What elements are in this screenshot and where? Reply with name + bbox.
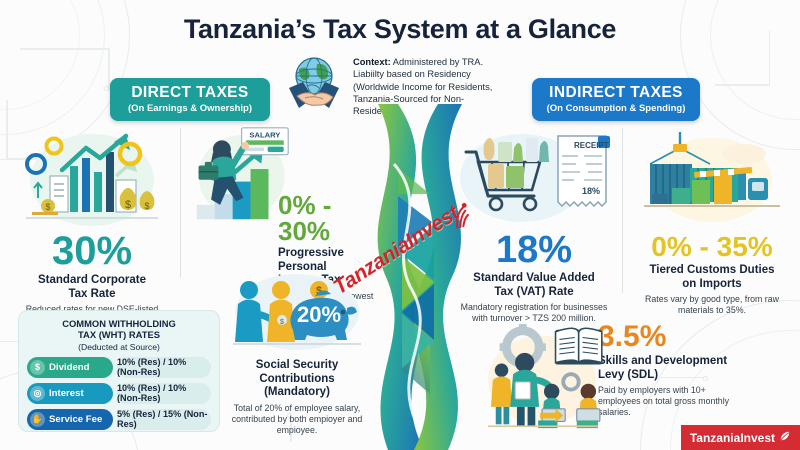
context-label: Context:: [353, 57, 391, 67]
wht-rate-interest: 10% (Res) / 10% (Non-Res): [117, 383, 211, 404]
infographic-canvas: Tanzania’s Tax System at a Glance Contex…: [0, 0, 800, 450]
wht-rate-service-fee: 5% (Res) / 15% (Non-Res): [117, 409, 211, 430]
customs-duties-subtext: Rates vary by good type, from raw materi…: [628, 294, 796, 316]
svg-text:20%: 20%: [297, 302, 341, 327]
badge-direct-subtitle: (On Earnings & Ownership): [122, 103, 258, 114]
sdl-subtext: Paid by employers with 10+ employees on …: [598, 385, 748, 418]
badge-indirect-subtitle: (On Consumption & Spending): [544, 103, 688, 114]
corporate-tax-value: 30%: [6, 231, 178, 271]
training-gear-book-icon: [480, 324, 606, 437]
social-security-subtext: Total of 20% of employee salary, contrib…: [218, 403, 376, 436]
wht-label-service-fee: Service Fee: [49, 414, 102, 425]
wht-rate-dividend: 10% (Res) / 10% (Non-Res): [117, 357, 211, 378]
tanzaniainvest-logo[interactable]: TanzaniaInvest: [681, 425, 800, 450]
wht-rates-panel: COMMON WITHHOLDING TAX (WHT) RATES (Dedu…: [18, 310, 220, 432]
badge-direct-taxes[interactable]: DIRECT TAXES (On Earnings & Ownership): [110, 78, 270, 121]
globe-handshake-icon: [283, 52, 345, 114]
money-bag-icon: $: [30, 360, 45, 375]
sdl-value: 3.5%: [598, 322, 780, 352]
logo-text: TanzaniaInvest: [690, 431, 775, 445]
wht-subtitle: (Deducted at Source): [27, 342, 211, 352]
vat-caption: Standard Value Added Tax (VAT) Rate: [444, 272, 624, 299]
badge-indirect-taxes[interactable]: INDIRECT TAXES (On Consumption & Spendin…: [532, 78, 700, 121]
card-corporate-tax: $ $ $ 30% Standard Corporate Tax Rate Re…: [6, 128, 178, 326]
wht-label-interest: Interest: [49, 388, 84, 399]
svg-text:18%: 18%: [582, 186, 600, 196]
wht-title: COMMON WITHHOLDING TAX (WHT) RATES: [27, 318, 211, 341]
corporate-tax-caption: Standard Corporate Tax Rate: [6, 274, 178, 301]
page-title: Tanzania’s Tax System at a Glance: [0, 14, 800, 45]
customs-duties-caption: Tiered Customs Duties on Imports: [628, 264, 796, 291]
vat-subtext: Mandatory registration for businesses wi…: [444, 302, 624, 324]
svg-text:$: $: [144, 201, 149, 211]
sdl-caption: Skills and Development Levy (SDL): [598, 355, 780, 382]
personal-income-tax-value: 0% - 30%: [278, 192, 376, 244]
divider-left: [180, 128, 181, 278]
card-social-security: $ $ 20% Social Security Contributions (M…: [218, 272, 376, 436]
wht-row-interest[interactable]: ◎ Interest 10% (Res) / 10% (Non-Res): [27, 383, 211, 404]
card-vat: RECEIPT 18% 18% Standard Value Added Tax…: [444, 128, 624, 324]
coin-stack-icon: ◎: [30, 386, 45, 401]
wht-label-dividend: Dividend: [49, 362, 90, 373]
svg-text:$: $: [125, 199, 131, 211]
badge-indirect-title: INDIRECT TAXES: [544, 84, 688, 102]
salary-stairs-icon: SALARY: [186, 126, 290, 235]
card-skills-development-levy: 3.5% Skills and Development Levy (SDL) P…: [480, 322, 780, 418]
shipping-container-crane-icon: [628, 128, 796, 233]
customs-duties-value: 0% - 35%: [628, 233, 796, 261]
hand-coin-icon: ✋: [30, 412, 45, 427]
card-customs-duties: 0% - 35% Tiered Customs Duties on Import…: [628, 128, 796, 316]
svg-text:SALARY: SALARY: [249, 131, 280, 140]
social-security-caption: Social Security Contributions (Mandatory…: [218, 359, 376, 400]
logo-leaf-icon: [779, 430, 791, 445]
badge-direct-title: DIRECT TAXES: [122, 84, 258, 102]
svg-text:$: $: [45, 202, 50, 212]
corporate-growth-chart-icon: $ $ $: [6, 128, 178, 235]
svg-text:RECEIPT: RECEIPT: [574, 141, 609, 150]
wht-row-service-fee[interactable]: ✋ Service Fee 5% (Res) / 15% (Non-Res): [27, 409, 211, 430]
wht-row-dividend[interactable]: $ Dividend 10% (Res) / 10% (Non-Res): [27, 357, 211, 378]
svg-text:$: $: [280, 319, 284, 326]
vat-value: 18%: [444, 231, 624, 269]
